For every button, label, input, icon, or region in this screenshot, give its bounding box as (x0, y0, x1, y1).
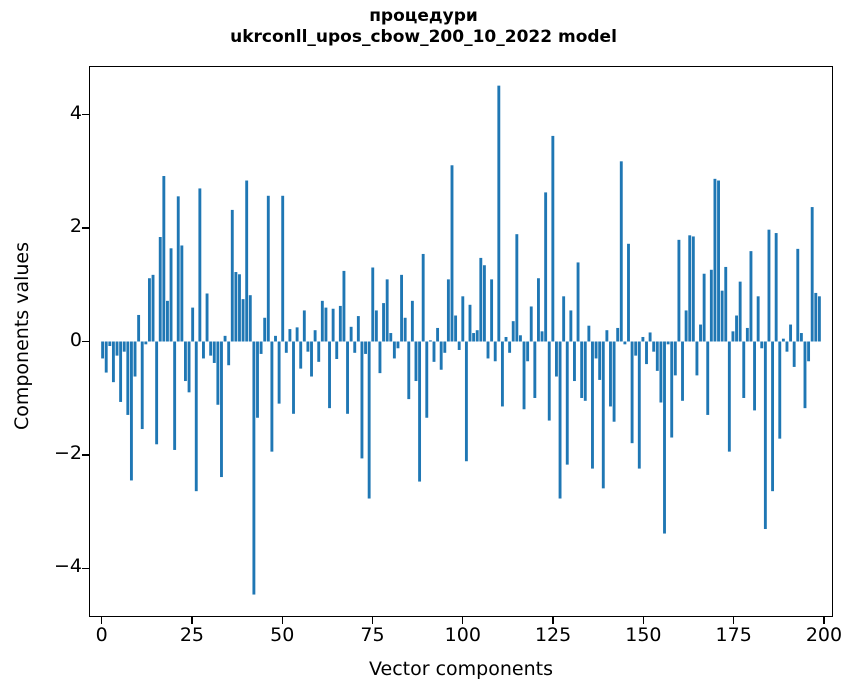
bar (155, 342, 158, 445)
chart-title-line2: ukrconll_upos_cbow_200_10_2022 model (0, 27, 847, 48)
bar (497, 86, 500, 342)
bar (451, 165, 454, 341)
bar (602, 342, 605, 489)
bar (440, 342, 443, 370)
bar (609, 342, 612, 407)
bar (429, 340, 432, 341)
bar (757, 296, 760, 341)
x-tick-mark (282, 617, 283, 624)
bar (721, 291, 724, 342)
bar (778, 342, 781, 439)
bar (328, 342, 331, 409)
y-tick-label: 4 (30, 102, 82, 124)
bar (814, 293, 817, 342)
bar (202, 342, 205, 359)
bar (353, 342, 356, 353)
bar (469, 305, 472, 342)
bar (804, 342, 807, 409)
bar (634, 342, 637, 356)
bar (303, 310, 306, 341)
bar (793, 342, 796, 367)
bar (703, 274, 706, 342)
bar (252, 342, 255, 595)
x-tick-mark (191, 617, 192, 624)
bar (386, 279, 389, 341)
chart-title-line1: процедури (0, 6, 847, 27)
bar (764, 342, 767, 530)
bar (137, 315, 140, 342)
bar (526, 342, 529, 362)
bar (263, 318, 266, 342)
bar (587, 326, 590, 342)
x-tick-mark (552, 617, 553, 624)
y-axis-tick-labels: −4−2024 (22, 0, 82, 696)
bar (238, 274, 241, 341)
y-tick-label: −4 (30, 555, 82, 577)
bar (285, 342, 288, 353)
bar (148, 278, 151, 341)
bar (789, 325, 792, 342)
bar (768, 230, 771, 342)
bar (685, 310, 688, 341)
bar (397, 342, 400, 349)
bar (746, 328, 749, 342)
bar (811, 207, 814, 341)
bar (213, 342, 216, 363)
x-tick-label: 150 (625, 624, 661, 646)
bar (649, 332, 652, 341)
bar (234, 272, 237, 341)
x-tick-mark (643, 617, 644, 624)
bar (342, 271, 345, 342)
y-tick-label: 2 (30, 215, 82, 237)
bar (447, 279, 450, 341)
bar (400, 275, 403, 342)
bar (616, 328, 619, 342)
bar (479, 258, 482, 342)
bar (706, 342, 709, 415)
x-tick-mark (823, 617, 824, 624)
x-tick-label: 50 (270, 624, 294, 646)
bar (393, 342, 396, 359)
bar (407, 342, 410, 400)
x-tick-label: 200 (806, 624, 842, 646)
bar (753, 342, 756, 411)
bar (742, 342, 745, 398)
bar (101, 342, 104, 359)
bar (231, 210, 234, 342)
bar (566, 342, 569, 465)
bar (732, 331, 735, 341)
bar (173, 342, 176, 450)
bar (116, 342, 119, 356)
bar (433, 342, 436, 362)
bar (786, 342, 789, 352)
chart-title: процедури ukrconll_upos_cbow_200_10_2022… (0, 6, 847, 48)
bar (296, 327, 299, 341)
bar (267, 196, 270, 342)
bar (134, 342, 137, 377)
bar (224, 336, 227, 342)
bar (292, 342, 295, 414)
bar (415, 342, 418, 382)
bar (159, 237, 162, 341)
bar (357, 316, 360, 341)
bar (458, 342, 461, 350)
bar (152, 275, 155, 342)
bar (162, 176, 165, 341)
y-tick-mark (82, 454, 89, 455)
bar (505, 337, 508, 342)
x-tick-label: 0 (96, 624, 108, 646)
bar (598, 342, 601, 380)
bar (361, 342, 364, 459)
bar (623, 342, 626, 345)
bar (418, 342, 421, 482)
bar (281, 196, 284, 342)
bar (184, 342, 187, 382)
bar (144, 342, 147, 345)
bar (595, 342, 598, 359)
bar (198, 188, 201, 341)
bar (195, 342, 198, 492)
bar (750, 251, 753, 341)
bar (476, 330, 479, 341)
bar (670, 342, 673, 438)
bar (256, 342, 259, 418)
bar (170, 248, 173, 341)
y-tick-label: −2 (30, 442, 82, 464)
bar (274, 336, 277, 342)
bar (379, 342, 382, 374)
bar (299, 342, 302, 369)
bar (710, 270, 713, 342)
bar (782, 339, 785, 342)
bar (739, 282, 742, 342)
bar (771, 342, 774, 492)
bar (119, 342, 122, 402)
bar (724, 267, 727, 342)
bar (728, 342, 731, 452)
bar (800, 333, 803, 341)
bar (681, 342, 684, 401)
bar (141, 342, 144, 430)
bar (105, 342, 108, 373)
bar (555, 342, 558, 377)
bar (270, 342, 273, 452)
bar (645, 342, 648, 365)
bar (364, 342, 367, 354)
bar (180, 245, 183, 341)
x-tick-mark (101, 617, 102, 624)
bar (523, 342, 526, 410)
bar (123, 342, 126, 352)
bar (796, 249, 799, 342)
bar (760, 342, 763, 349)
bar (461, 296, 464, 341)
bar (321, 301, 324, 342)
bar (317, 342, 320, 362)
bar (677, 240, 680, 342)
x-tick-label: 175 (716, 624, 752, 646)
bar (245, 181, 248, 342)
bar (108, 342, 111, 347)
bar (659, 342, 662, 403)
y-tick-mark (82, 341, 89, 342)
bar (487, 342, 490, 359)
bar (591, 342, 594, 469)
bar (631, 342, 634, 444)
bar (166, 301, 169, 342)
bar (288, 329, 291, 341)
bar (656, 342, 659, 371)
bar (483, 265, 486, 341)
bar (584, 342, 587, 401)
bar (674, 342, 677, 376)
bar (227, 342, 230, 366)
bar (688, 235, 691, 341)
bar (641, 337, 644, 342)
bar (371, 268, 374, 342)
bar (306, 342, 309, 352)
bar (436, 328, 439, 342)
bar (508, 342, 511, 353)
bar (177, 196, 180, 341)
bar (775, 233, 778, 341)
bar (548, 342, 551, 421)
bar (559, 342, 562, 499)
bar (501, 342, 504, 407)
x-axis-tick-labels: 0255075100125150175200 (0, 624, 847, 650)
bar (580, 342, 583, 398)
y-tick-mark (82, 114, 89, 115)
bar (472, 333, 475, 341)
x-tick-mark (372, 617, 373, 624)
bar (620, 161, 623, 341)
x-tick-label: 125 (535, 624, 571, 646)
bar (350, 327, 353, 342)
bar (627, 244, 630, 342)
bar (613, 342, 616, 422)
bar (663, 342, 666, 534)
bar (209, 342, 212, 356)
bar (389, 333, 392, 341)
bar (422, 254, 425, 342)
bar (382, 303, 385, 341)
bar (242, 299, 245, 341)
bar (314, 330, 317, 341)
x-axis-label: Vector components (89, 658, 833, 680)
bar (573, 342, 576, 382)
bar (278, 342, 281, 404)
bar (699, 325, 702, 342)
bar (494, 342, 497, 362)
bar (375, 310, 378, 341)
bar (206, 293, 209, 341)
bar (562, 296, 565, 341)
bar (346, 342, 349, 414)
bar (130, 342, 133, 481)
bar (425, 342, 428, 418)
bar (454, 316, 457, 342)
bar (112, 342, 115, 383)
bar (537, 278, 540, 341)
bar (324, 308, 327, 342)
y-tick-label: 0 (30, 329, 82, 351)
bar (541, 331, 544, 341)
bar (652, 342, 655, 352)
figure-canvas: процедури ukrconll_upos_cbow_200_10_2022… (0, 0, 847, 696)
bar (569, 310, 572, 341)
plot-area (89, 66, 833, 617)
bar (332, 309, 335, 342)
bar (544, 192, 547, 341)
bar (692, 236, 695, 341)
bar (126, 342, 129, 415)
bar (339, 306, 342, 342)
bar (465, 342, 468, 462)
bar (411, 301, 414, 342)
bar (512, 321, 515, 341)
x-tick-mark (733, 617, 734, 624)
y-tick-mark (82, 227, 89, 228)
bar (530, 306, 533, 341)
bar (260, 342, 263, 354)
y-tick-mark (82, 568, 89, 569)
bar (818, 296, 821, 341)
bar (310, 342, 313, 377)
bar (335, 342, 338, 360)
bar (577, 262, 580, 341)
bar (191, 308, 194, 342)
bar (735, 316, 738, 342)
x-tick-mark (462, 617, 463, 624)
x-tick-label: 25 (180, 624, 204, 646)
x-tick-label: 100 (445, 624, 481, 646)
bar (490, 279, 493, 341)
x-tick-label: 75 (360, 624, 384, 646)
bar (404, 318, 407, 342)
bar (515, 234, 518, 341)
bar (216, 342, 219, 405)
bar (807, 342, 810, 362)
bar (605, 330, 608, 341)
bar (443, 342, 446, 353)
bar (249, 295, 252, 341)
bar (533, 342, 536, 398)
bar (667, 342, 670, 345)
bar (551, 136, 554, 342)
bar-series (90, 67, 832, 616)
bar (188, 342, 191, 393)
bar (220, 342, 223, 478)
bar (519, 335, 522, 341)
bar (638, 342, 641, 469)
bar (717, 181, 720, 342)
bar (368, 342, 371, 499)
bar (695, 342, 698, 376)
bar (713, 179, 716, 342)
